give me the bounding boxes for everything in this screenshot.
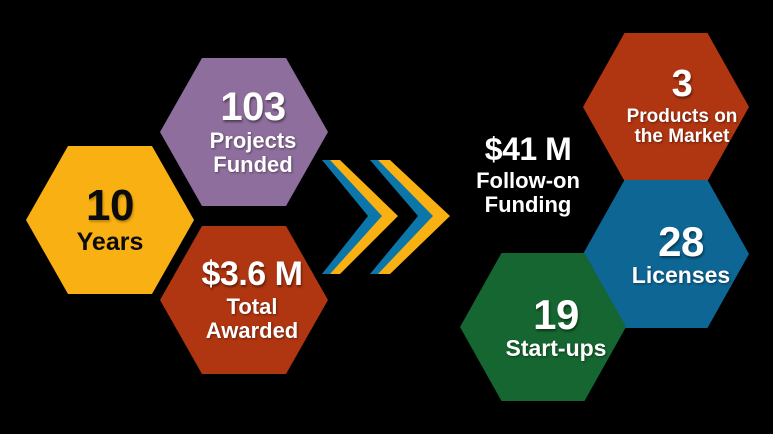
stat-label-startups: Start-ups [506, 336, 607, 361]
infographic-canvas: 10 Years 103 Projects Funded $3.6 M Tota… [0, 0, 773, 434]
stat-value-total-awarded: $3.6 M [202, 258, 303, 291]
double-chevron-right-icon [318, 158, 454, 278]
stat-label-products-on-market: Products on the Market [627, 107, 738, 148]
stat-hexagon-projects-funded: 103 Projects Funded [160, 58, 328, 206]
stat-value-projects-funded: 103 [220, 88, 285, 127]
stat-label-followon-funding-line2: Funding [485, 192, 572, 217]
stat-label-projects-funded-line2: Funded [213, 152, 292, 177]
stat-label-total-awarded-line1: Total [227, 294, 278, 319]
stat-label-years: Years [77, 229, 144, 256]
stat-label-total-awarded-line2: Awarded [206, 318, 299, 343]
stat-hexagon-total-awarded: $3.6 M Total Awarded [160, 226, 328, 374]
stat-hexagon-years: 10 Years [26, 146, 194, 294]
stat-followon-funding: $41 M Follow-on Funding [452, 133, 604, 217]
double-chevron-right-svg [318, 158, 454, 278]
stat-value-years: 10 [86, 184, 134, 227]
stat-hexagon-products-on-market: 3 Products on the Market [583, 33, 749, 181]
stat-label-followon-funding: Follow-on Funding [452, 169, 604, 217]
stat-value-startups: 19 [533, 294, 579, 335]
stat-label-projects-funded: Projects Funded [210, 129, 297, 177]
stat-value-products-on-market: 3 [672, 66, 693, 103]
stat-label-licenses: Licenses [632, 263, 730, 288]
stat-value-licenses: 28 [658, 221, 704, 262]
stat-label-followon-funding-line1: Follow-on [476, 168, 580, 193]
stat-label-projects-funded-line1: Projects [210, 128, 297, 153]
stat-label-products-on-market-line2: the Market [634, 126, 729, 147]
stat-value-followon-funding: $41 M [452, 133, 604, 165]
stat-label-products-on-market-line1: Products on [627, 106, 738, 127]
stat-label-total-awarded: Total Awarded [206, 295, 299, 343]
